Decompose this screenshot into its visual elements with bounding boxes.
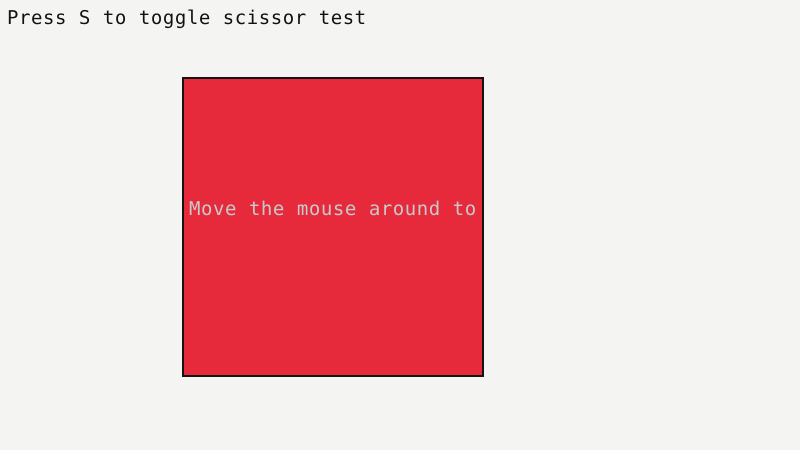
scissor-region[interactable]: Move the mouse around to r [182, 77, 484, 377]
scissor-clipped-text: Move the mouse around to r [189, 198, 484, 221]
instruction-text: Press S to toggle scissor test [7, 7, 367, 30]
scissor-fill [184, 79, 482, 375]
header-bar: Press S to toggle scissor test [0, 0, 800, 40]
app-root: Press S to toggle scissor test Move the … [0, 0, 800, 450]
